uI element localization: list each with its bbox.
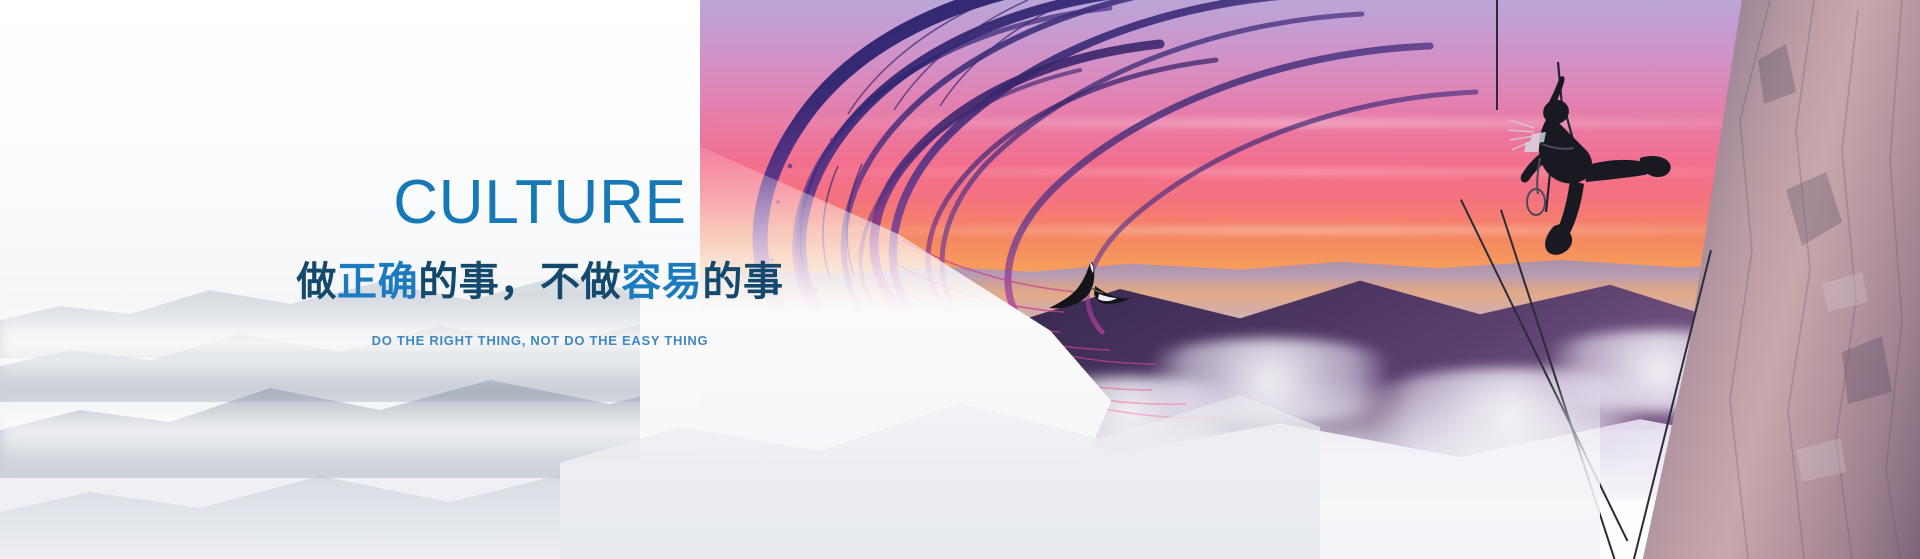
headline-segment-1: 做 [296,259,337,305]
headline-segment-2-highlight: 正确 [337,259,418,305]
headline-segment-5: 的事 [702,259,783,305]
headline-english-subtitle: DO THE RIGHT THING, NOT DO THE EASY THIN… [0,333,1080,348]
culture-hero-banner: CULTURE 做正确的事，不做容易的事 DO THE RIGHT THING,… [0,0,1920,559]
page-title: CULTURE [0,172,1080,234]
headline-chinese: 做正确的事，不做容易的事 [0,260,1080,305]
banner-copy-block: CULTURE 做正确的事，不做容易的事 DO THE RIGHT THING,… [0,172,1080,348]
headline-segment-4-highlight: 容易 [621,259,702,305]
rappelling-rock-climber [1480,62,1700,272]
headline-segment-3: 的事，不做 [418,259,621,305]
